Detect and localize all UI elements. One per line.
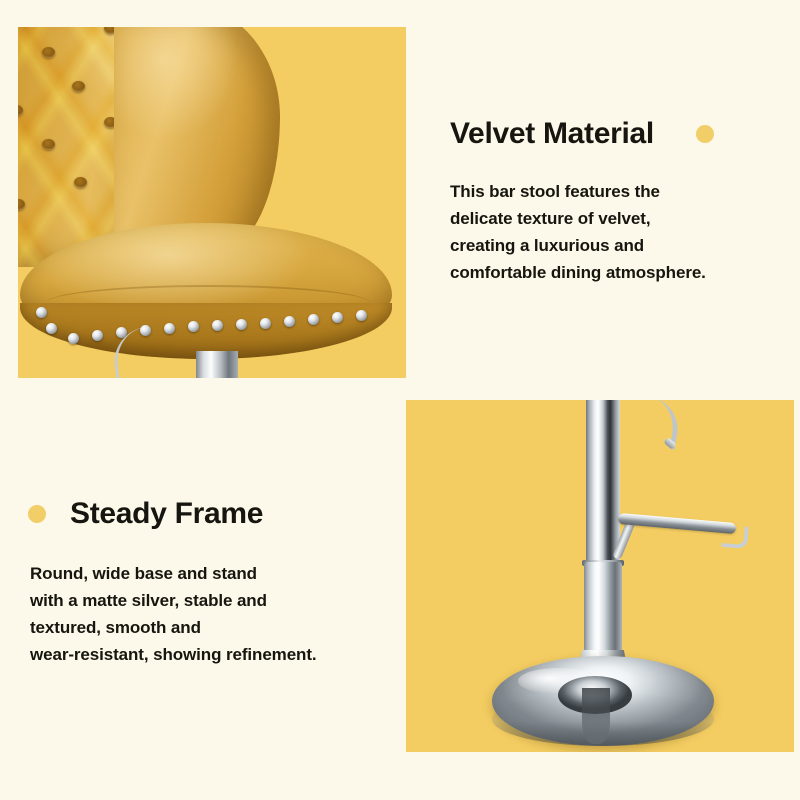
velvet-material-photo [18, 27, 406, 378]
nailhead-stud [46, 323, 57, 334]
velvet-body-line: This bar stool features the [450, 178, 790, 205]
steady-frame-text-block: Steady Frame Round, wide base and stand … [28, 492, 384, 668]
nailhead-stud [92, 330, 103, 341]
frame-body-line: Round, wide base and stand [30, 560, 384, 587]
nailhead-stud [68, 333, 79, 344]
tuft-button [42, 139, 55, 150]
tuft-button [74, 177, 87, 188]
nailhead-stud [212, 320, 223, 331]
nailhead-stud [308, 314, 319, 325]
steady-frame-photo [406, 400, 794, 752]
frame-body-line: with a matte silver, stable and [30, 587, 384, 614]
dot-icon [696, 125, 714, 143]
frame-heading-row: Steady Frame [28, 492, 384, 536]
chair-back-shoulder [114, 27, 280, 255]
velvet-body-text: This bar stool features the delicate tex… [450, 178, 790, 286]
tuft-button [72, 81, 85, 92]
frame-photo-artwork [406, 400, 794, 752]
velvet-body-line: comfortable dining atmosphere. [450, 259, 790, 286]
nailhead-stud [356, 310, 367, 321]
nailhead-stud [260, 318, 271, 329]
chrome-base-stem-shadow [582, 688, 610, 744]
nailhead-stud [284, 316, 295, 327]
footrest-hook [721, 525, 748, 549]
velvet-body-line: creating a luxurious and [450, 232, 790, 259]
velvet-body-line: delicate texture of velvet, [450, 205, 790, 232]
tuft-button [42, 47, 55, 58]
frame-body-line: wear-resistant, showing refinement. [30, 641, 384, 668]
frame-body-text: Round, wide base and stand with a matte … [30, 560, 384, 668]
nailhead-stud [332, 312, 343, 323]
chrome-column [196, 351, 238, 378]
chrome-post-upper [586, 400, 620, 566]
frame-body-line: textured, smooth and [30, 614, 384, 641]
nailhead-stud [236, 319, 247, 330]
velvet-photo-artwork [18, 27, 406, 378]
infographic-page: Velvet Material This bar stool features … [0, 0, 800, 800]
velvet-heading: Velvet Material [450, 117, 654, 151]
nailhead-stud [36, 307, 47, 318]
velvet-material-text-block: Velvet Material This bar stool features … [450, 112, 790, 286]
frame-heading: Steady Frame [70, 497, 263, 531]
dot-icon [28, 505, 46, 523]
nailhead-stud [188, 321, 199, 332]
velvet-heading-row: Velvet Material [450, 112, 790, 156]
